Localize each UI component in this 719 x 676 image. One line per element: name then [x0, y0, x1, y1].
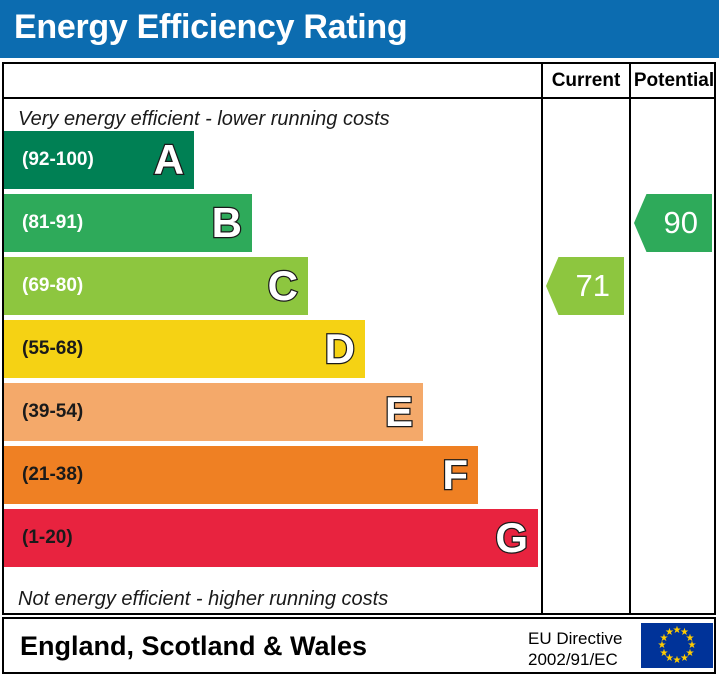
eu-flag-star: ★ [665, 628, 674, 637]
band-range-c: (69-80) [22, 275, 83, 297]
rating-arrow-current: 71 [546, 257, 624, 315]
column-divider-current [541, 62, 543, 615]
rating-arrow-potential: 90 [634, 194, 712, 252]
directive-line-2: 2002/91/EC [528, 650, 632, 671]
band-a: (92-100)A [4, 131, 194, 189]
column-divider-potential [629, 62, 631, 615]
energy-efficiency-rating-chart: Energy Efficiency Rating Current Potenti… [0, 0, 719, 676]
band-letter-e: E [385, 391, 413, 433]
eu-flag-icon: ★★★★★★★★★★★★ [641, 623, 713, 668]
caption-bottom: Not energy efficient - higher running co… [18, 588, 388, 611]
band-e: (39-54)E [4, 383, 423, 441]
footer-region-label: England, Scotland & Wales [20, 631, 367, 662]
directive-line-1: EU Directive [528, 629, 632, 650]
page-title: Energy Efficiency Rating [14, 8, 407, 47]
band-letter-b: B [212, 202, 242, 244]
footer-directive: EU Directive 2002/91/EC [528, 629, 632, 670]
band-g: (1-20)G [4, 509, 538, 567]
band-range-a: (92-100) [22, 149, 94, 171]
band-letter-f: F [442, 454, 468, 496]
band-letter-d: D [325, 328, 355, 370]
band-range-e: (39-54) [22, 401, 83, 423]
header-row-divider [2, 97, 716, 99]
title-bar: Energy Efficiency Rating [0, 0, 719, 58]
band-b: (81-91)B [4, 194, 252, 252]
band-range-d: (55-68) [22, 338, 83, 360]
column-header-potential: Potential [631, 70, 717, 92]
band-range-b: (81-91) [22, 212, 83, 234]
band-d: (55-68)D [4, 320, 365, 378]
band-letter-g: G [495, 517, 528, 559]
band-range-f: (21-38) [22, 464, 83, 486]
footer-bar: England, Scotland & Wales EU Directive 2… [2, 617, 716, 674]
band-letter-a: A [154, 139, 184, 181]
band-c: (69-80)C [4, 257, 308, 315]
band-letter-c: C [268, 265, 298, 307]
column-header-current: Current [543, 70, 629, 92]
band-range-g: (1-20) [22, 527, 73, 549]
band-f: (21-38)F [4, 446, 478, 504]
caption-top: Very energy efficient - lower running co… [18, 108, 390, 131]
